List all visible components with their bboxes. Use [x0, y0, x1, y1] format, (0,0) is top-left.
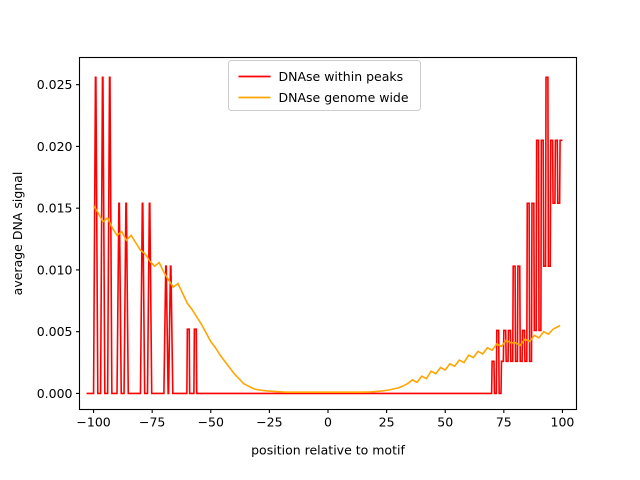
y-tick-label: 0.010: [37, 262, 73, 277]
x-tick-label: −50: [198, 415, 224, 430]
x-tick-label: −75: [139, 415, 165, 430]
x-tick-label: 25: [379, 415, 395, 430]
y-tick-label: 0.020: [37, 139, 73, 154]
legend-label-2: DNAse genome wide: [279, 90, 409, 105]
x-tick-label: 100: [551, 415, 575, 430]
figure-canvas: −100−75−50−250255075100 0.0000.0050.0100…: [0, 0, 640, 480]
x-tick-label: −100: [76, 415, 110, 430]
chart-legend: DNAse within peaksDNAse genome wide: [229, 61, 421, 111]
x-tick-label: 75: [496, 415, 512, 430]
y-tick-label: 0.000: [37, 386, 73, 401]
y-tick-label: 0.015: [37, 201, 73, 216]
x-tick-label: 0: [324, 415, 332, 430]
x-tick-label: −25: [256, 415, 282, 430]
series-line-1: [87, 77, 563, 393]
y-tick-label: 0.025: [37, 77, 73, 92]
y-axis-label: average DNA signal: [10, 172, 25, 296]
y-axis-ticks: 0.0000.0050.0100.0150.0200.025: [37, 77, 80, 401]
x-axis-ticks: −100−75−50−250255075100: [76, 410, 574, 430]
y-tick-label: 0.005: [37, 324, 73, 339]
x-axis-label: position relative to motif: [251, 443, 405, 458]
legend-label-1: DNAse within peaks: [279, 69, 404, 84]
chart-plot: −100−75−50−250255075100 0.0000.0050.0100…: [0, 0, 640, 480]
x-tick-label: 50: [437, 415, 453, 430]
data-series-group: [87, 77, 563, 393]
